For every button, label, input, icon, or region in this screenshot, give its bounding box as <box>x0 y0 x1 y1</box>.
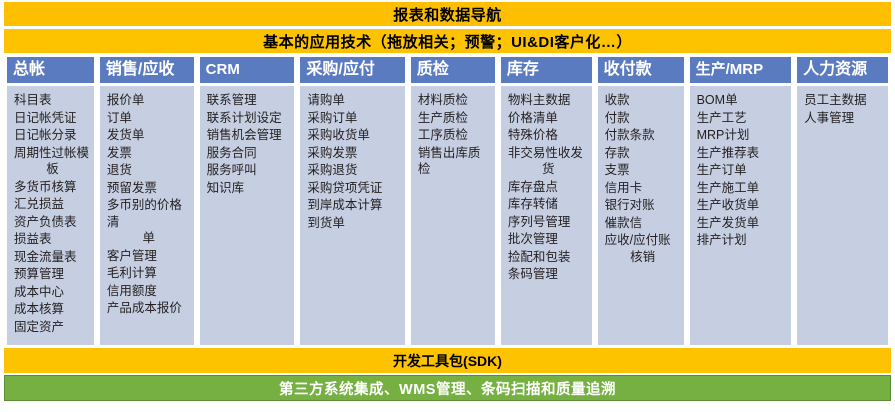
module-column-inventory[interactable]: 库存 物料主数据 价格清单 特殊价格 非交易性收发 货 库存盘点 库存转储 序列… <box>501 57 592 345</box>
module-item[interactable]: 资产负债表 <box>14 214 91 231</box>
module-item[interactable]: 产品成本报价 <box>107 300 191 317</box>
erp-module-navigation-diagram: 报表和数据导航 基本的应用技术（拖放相关；预警；UI&DI客户化…） 总帐 科目… <box>0 2 895 412</box>
module-column-title: 库存 <box>501 57 592 83</box>
module-item[interactable]: 知识库 <box>207 180 292 197</box>
module-item[interactable]: 非交易性收发 货 <box>508 145 589 178</box>
module-column-title: 质检 <box>411 57 495 83</box>
module-item[interactable]: 生产订单 <box>697 162 789 179</box>
module-item[interactable]: 批次管理 <box>508 231 589 248</box>
module-item[interactable]: 特殊价格 <box>508 127 589 144</box>
module-item[interactable]: 付款 <box>605 110 681 127</box>
module-item[interactable]: 订单 <box>107 110 191 127</box>
module-item[interactable]: 付款条款 <box>605 127 681 144</box>
module-item[interactable]: 发票 <box>107 145 191 162</box>
module-item[interactable]: 条码管理 <box>508 266 589 283</box>
module-item[interactable]: 销售出库质检 <box>418 145 492 178</box>
module-column-general-ledger[interactable]: 总帐 科目表 日记帐凭证 日记帐分录 周期性过帐模 板 多货币核算 汇兑损益 资… <box>7 57 94 345</box>
module-item[interactable]: 服务合同 <box>207 145 292 162</box>
module-item[interactable]: 生产发货单 <box>697 215 789 232</box>
module-item-list: 请购单 采购订单 采购收货单 采购发票 采购退货 采购贷项凭证 到岸成本计算 到… <box>300 86 404 345</box>
module-column-title: 总帐 <box>7 57 94 83</box>
module-item[interactable]: 采购贷项凭证 <box>307 180 401 197</box>
module-item-list: 材料质检 生产质检 工序质检 销售出库质检 <box>411 86 495 345</box>
basic-application-technology-banner: 基本的应用技术（拖放相关；预警；UI&DI客户化…） <box>4 29 891 53</box>
module-item-list: 员工主数据 人事管理 <box>797 86 888 345</box>
sdk-banner: 开发工具包(SDK) <box>4 348 891 373</box>
module-item[interactable]: 催款信 <box>605 215 681 232</box>
module-item[interactable]: 毛利计算 <box>107 265 191 282</box>
module-item[interactable]: 多货币核算 <box>14 179 91 196</box>
module-item-line1: 非交易性收发 <box>508 145 589 162</box>
module-item[interactable]: 预算管理 <box>14 266 91 283</box>
module-item[interactable]: 成本核算 <box>14 301 91 318</box>
module-item[interactable]: 价格清单 <box>508 110 589 127</box>
module-item[interactable]: 生产施工单 <box>697 180 789 197</box>
module-item[interactable]: 捡配和包装 <box>508 249 589 266</box>
module-item[interactable]: 支票 <box>605 162 681 179</box>
module-item-list: 收款 付款 付款条款 存款 支票 信用卡 银行对账 催款信 应收/应付账 核销 <box>598 86 684 345</box>
module-item[interactable]: 库存转储 <box>508 196 589 213</box>
module-item[interactable]: 请购单 <box>307 92 401 109</box>
module-item[interactable]: 生产工艺 <box>697 110 789 127</box>
module-item[interactable]: 损益表 <box>14 231 91 248</box>
module-columns: 总帐 科目表 日记帐凭证 日记帐分录 周期性过帐模 板 多货币核算 汇兑损益 资… <box>4 57 891 345</box>
module-item[interactable]: 科目表 <box>14 92 91 109</box>
module-column-sales-ar[interactable]: 销售/应收 报价单 订单 发货单 发票 退货 预留发票 多币别的价格清 单 客户… <box>100 57 194 345</box>
module-item[interactable]: 物料主数据 <box>508 92 589 109</box>
module-item[interactable]: BOM单 <box>697 92 789 109</box>
module-item[interactable]: 退货 <box>107 162 191 179</box>
module-item[interactable]: 预留发票 <box>107 180 191 197</box>
module-item[interactable]: 服务呼叫 <box>207 162 292 179</box>
module-item[interactable]: 工序质检 <box>418 127 492 144</box>
module-item[interactable]: 信用卡 <box>605 180 681 197</box>
module-item[interactable]: 报价单 <box>107 92 191 109</box>
module-item[interactable]: 多币别的价格清 单 <box>107 197 191 247</box>
module-column-purchasing-ap[interactable]: 采购/应付 请购单 采购订单 采购收货单 采购发票 采购退货 采购贷项凭证 到岸… <box>300 57 404 345</box>
module-column-title: 生产/MRP <box>690 57 792 83</box>
module-item[interactable]: 生产收货单 <box>697 197 789 214</box>
module-column-title: 收付款 <box>598 57 684 83</box>
module-item-line2: 货 <box>508 161 589 178</box>
module-item[interactable]: 银行对账 <box>605 197 681 214</box>
module-item[interactable]: 日记帐凭证 <box>14 110 91 127</box>
module-item[interactable]: 联系管理 <box>207 92 292 109</box>
module-item[interactable]: 存款 <box>605 145 681 162</box>
module-item-list: 联系管理 联系计划设定 销售机会管理 服务合同 服务呼叫 知识库 <box>200 86 295 345</box>
module-item[interactable]: 收款 <box>605 92 681 109</box>
module-column-production-mrp[interactable]: 生产/MRP BOM单 生产工艺 MRP计划 生产推荐表 生产订单 生产施工单 … <box>690 57 792 345</box>
module-item[interactable]: 联系计划设定 <box>207 110 292 127</box>
module-item[interactable]: 到岸成本计算 <box>307 197 401 214</box>
module-item[interactable]: 采购收货单 <box>307 127 401 144</box>
third-party-integration-banner: 第三方系统集成、WMS管理、条码扫描和质量追溯 <box>4 375 891 401</box>
module-item[interactable]: 成本中心 <box>14 284 91 301</box>
module-item-line2: 板 <box>14 161 91 178</box>
module-item[interactable]: 库存盘点 <box>508 179 589 196</box>
module-item[interactable]: 日记帐分录 <box>14 127 91 144</box>
module-item[interactable]: 发货单 <box>107 127 191 144</box>
module-column-payments[interactable]: 收付款 收款 付款 付款条款 存款 支票 信用卡 银行对账 催款信 应收/应付账… <box>598 57 684 345</box>
module-item-list: 科目表 日记帐凭证 日记帐分录 周期性过帐模 板 多货币核算 汇兑损益 资产负债… <box>7 86 94 345</box>
module-item-list: 物料主数据 价格清单 特殊价格 非交易性收发 货 库存盘点 库存转储 序列号管理… <box>501 86 592 345</box>
module-item[interactable]: 汇兑损益 <box>14 196 91 213</box>
module-item[interactable]: 序列号管理 <box>508 214 589 231</box>
module-item[interactable]: 排产计划 <box>697 232 789 249</box>
module-column-title: CRM <box>200 57 295 83</box>
module-item-line1: 周期性过帐模 <box>14 145 91 162</box>
module-item[interactable]: 到货单 <box>307 215 401 232</box>
module-column-human-resources[interactable]: 人力资源 员工主数据 人事管理 <box>797 57 888 345</box>
module-item[interactable]: 采购订单 <box>307 110 401 127</box>
module-column-title: 销售/应收 <box>100 57 194 83</box>
module-item-line2: 核销 <box>605 249 681 266</box>
module-item[interactable]: 应收/应付账 核销 <box>605 232 681 265</box>
module-item[interactable]: 客户管理 <box>107 248 191 265</box>
module-column-title: 人力资源 <box>797 57 888 83</box>
module-item[interactable]: 生产推荐表 <box>697 145 789 162</box>
module-item-line1: 应收/应付账 <box>605 232 681 249</box>
module-item[interactable]: 销售机会管理 <box>207 127 292 144</box>
module-item[interactable]: 材料质检 <box>418 92 492 109</box>
module-item-line2: 单 <box>107 230 191 247</box>
module-item[interactable]: 信用额度 <box>107 283 191 300</box>
module-item-line1: 多币别的价格清 <box>107 197 191 230</box>
module-column-crm[interactable]: CRM 联系管理 联系计划设定 销售机会管理 服务合同 服务呼叫 知识库 <box>200 57 295 345</box>
module-column-title: 采购/应付 <box>300 57 404 83</box>
module-item[interactable]: 周期性过帐模 板 <box>14 145 91 178</box>
reports-and-data-navigation-banner: 报表和数据导航 <box>4 2 891 26</box>
module-item-list: 报价单 订单 发货单 发票 退货 预留发票 多币别的价格清 单 客户管理 毛利计… <box>100 86 194 345</box>
module-item[interactable]: 固定资产 <box>14 319 91 336</box>
module-column-quality-control[interactable]: 质检 材料质检 生产质检 工序质检 销售出库质检 <box>411 57 495 345</box>
module-item[interactable]: MRP计划 <box>697 127 789 144</box>
module-item[interactable]: 生产质检 <box>418 110 492 127</box>
module-item-list: BOM单 生产工艺 MRP计划 生产推荐表 生产订单 生产施工单 生产收货单 生… <box>690 86 792 345</box>
module-item[interactable]: 人事管理 <box>804 110 885 127</box>
module-item[interactable]: 现金流量表 <box>14 249 91 266</box>
module-item[interactable]: 采购发票 <box>307 145 401 162</box>
module-item[interactable]: 员工主数据 <box>804 92 885 109</box>
module-item[interactable]: 采购退货 <box>307 162 401 179</box>
